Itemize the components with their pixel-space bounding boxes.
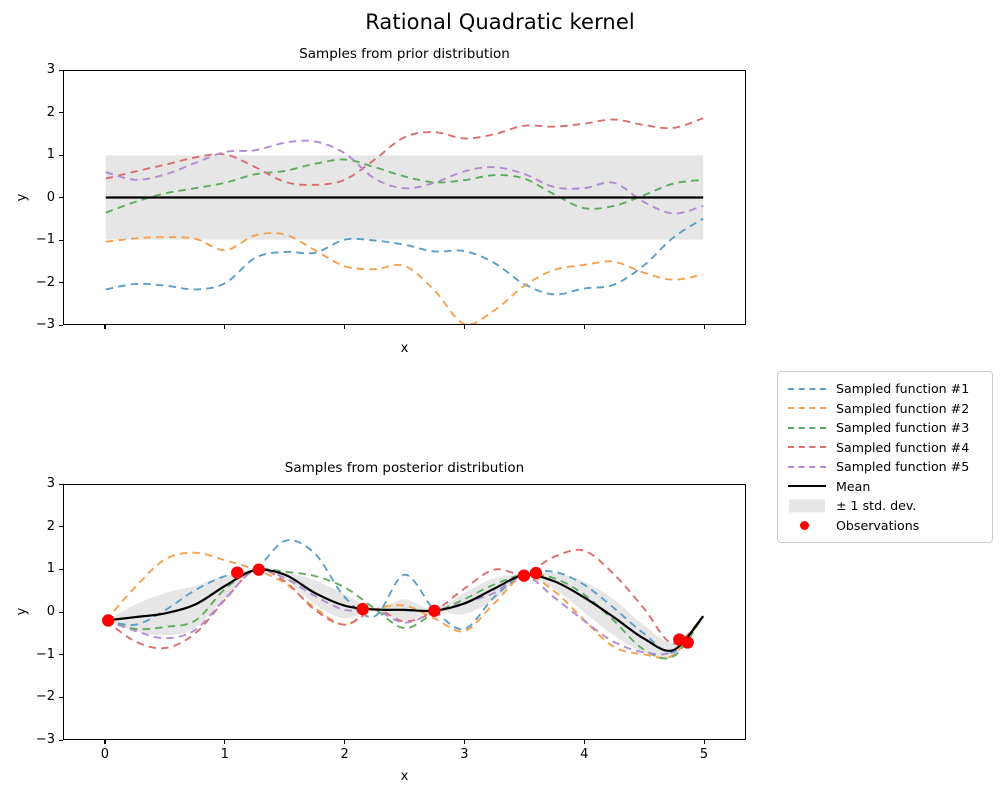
area-patch-icon: [786, 497, 828, 515]
post-xtick-mark: [344, 740, 345, 744]
legend-item-label: Observations: [836, 518, 919, 533]
legend-item-label: ± 1 std. dev.: [836, 498, 916, 513]
prior-ytick-label: 3: [15, 63, 55, 76]
prior-x-axis-label: x: [63, 341, 746, 356]
post-xtick-mark: [704, 740, 705, 744]
prior-ytick-label: 1: [15, 148, 55, 161]
post-xtick-label: 0: [85, 747, 125, 762]
prior-xtick-mark: [224, 325, 225, 329]
post-ytick-mark: [59, 654, 63, 655]
post-xtick-label: 4: [564, 747, 604, 762]
prior-ytick-mark: [59, 112, 63, 113]
dashed-line-swatch: [788, 446, 826, 448]
post-ytick-mark: [59, 526, 63, 527]
prior-xtick-mark: [584, 325, 585, 329]
legend-item-7: ± 1 std. dev.: [786, 496, 984, 516]
post-observation-point: [102, 614, 114, 626]
dot-marker-icon: [786, 516, 828, 534]
figure-root: Rational Quadratic kernel Samples from p…: [0, 0, 1000, 800]
dot-marker-swatch: [800, 521, 809, 530]
posterior-subplot-title: Samples from posterior distribution: [63, 460, 746, 476]
post-ytick-label: 2: [15, 520, 55, 533]
prior-ytick-mark: [59, 155, 63, 156]
post-xtick-label: 1: [205, 747, 245, 762]
post-ytick-mark: [59, 569, 63, 570]
dashed-line-swatch: [788, 407, 826, 409]
legend-item-label: Sampled function #3: [836, 420, 969, 435]
post-ytick-label: 1: [15, 562, 55, 575]
posterior-x-axis-label: x: [63, 769, 746, 784]
legend-item-label: Sampled function #2: [836, 401, 969, 416]
prior-ytick-label: −3: [15, 318, 55, 331]
dashed-line-icon: [786, 380, 828, 398]
legend-item-1: Sampled function #1: [786, 379, 984, 399]
legend-item-label: Mean: [836, 479, 870, 494]
dashed-line-swatch: [788, 466, 826, 468]
prior-subplot-title: Samples from prior distribution: [63, 46, 746, 62]
post-observation-point: [681, 636, 693, 648]
post-observation-point: [253, 564, 265, 576]
post-ytick-mark: [59, 484, 63, 485]
legend-item-label: Sampled function #5: [836, 459, 969, 474]
post-xtick-label: 5: [684, 747, 724, 762]
post-xtick-mark: [224, 740, 225, 744]
legend: Sampled function #1Sampled function #2Sa…: [777, 371, 993, 543]
post-observation-point: [518, 569, 530, 581]
post-ytick-label: 3: [15, 477, 55, 490]
prior-axes: [63, 70, 746, 325]
post-observation-point: [530, 567, 542, 579]
post-ytick-label: −1: [15, 648, 55, 661]
legend-item-8: Observations: [786, 516, 984, 536]
dashed-line-icon: [786, 458, 828, 476]
prior-ytick-mark: [59, 240, 63, 241]
posterior-axes: [63, 484, 746, 740]
post-xtick-label: 3: [444, 747, 484, 762]
prior-xtick-mark: [464, 325, 465, 329]
post-xtick-mark: [104, 740, 105, 744]
figure-title: Rational Quadratic kernel: [0, 10, 1000, 34]
legend-item-5: Sampled function #5: [786, 457, 984, 477]
prior-ytick-label: −1: [15, 233, 55, 246]
post-ytick-label: −3: [15, 733, 55, 746]
prior-sampled-function-2: [106, 233, 703, 324]
dashed-line-swatch: [788, 388, 826, 390]
post-observation-point: [231, 566, 243, 578]
prior-plot-canvas: [64, 71, 745, 324]
legend-item-label: Sampled function #1: [836, 381, 969, 396]
post-xtick-mark: [584, 740, 585, 744]
prior-ytick-mark: [59, 70, 63, 71]
legend-item-2: Sampled function #2: [786, 399, 984, 419]
post-xtick-label: 2: [325, 747, 365, 762]
post-ytick-label: −2: [15, 690, 55, 703]
dashed-line-icon: [786, 399, 828, 417]
dashed-line-icon: [786, 419, 828, 437]
prior-ytick-mark: [59, 282, 63, 283]
posterior-y-axis-label: y: [15, 592, 30, 632]
legend-item-3: Sampled function #3: [786, 418, 984, 438]
post-std-band: [106, 570, 703, 659]
legend-item-6: Mean: [786, 477, 984, 497]
posterior-plot-canvas: [64, 485, 745, 739]
prior-ytick-mark: [59, 325, 63, 326]
post-observation-point: [428, 605, 440, 617]
prior-y-axis-label: y: [15, 177, 30, 217]
dashed-line-icon: [786, 438, 828, 456]
legend-item-label: Sampled function #4: [836, 440, 969, 455]
area-patch-swatch: [789, 499, 825, 512]
prior-ytick-label: −2: [15, 276, 55, 289]
prior-ytick-mark: [59, 197, 63, 198]
prior-xtick-mark: [344, 325, 345, 329]
legend-item-4: Sampled function #4: [786, 438, 984, 458]
dashed-line-swatch: [788, 427, 826, 429]
prior-xtick-mark: [104, 325, 105, 329]
post-ytick-mark: [59, 697, 63, 698]
post-ytick-mark: [59, 740, 63, 741]
solid-line-icon: [786, 477, 828, 495]
prior-ytick-label: 2: [15, 106, 55, 119]
post-observation-point: [357, 603, 369, 615]
prior-xtick-mark: [704, 325, 705, 329]
solid-line-swatch: [788, 485, 826, 487]
post-xtick-mark: [464, 740, 465, 744]
post-ytick-mark: [59, 612, 63, 613]
